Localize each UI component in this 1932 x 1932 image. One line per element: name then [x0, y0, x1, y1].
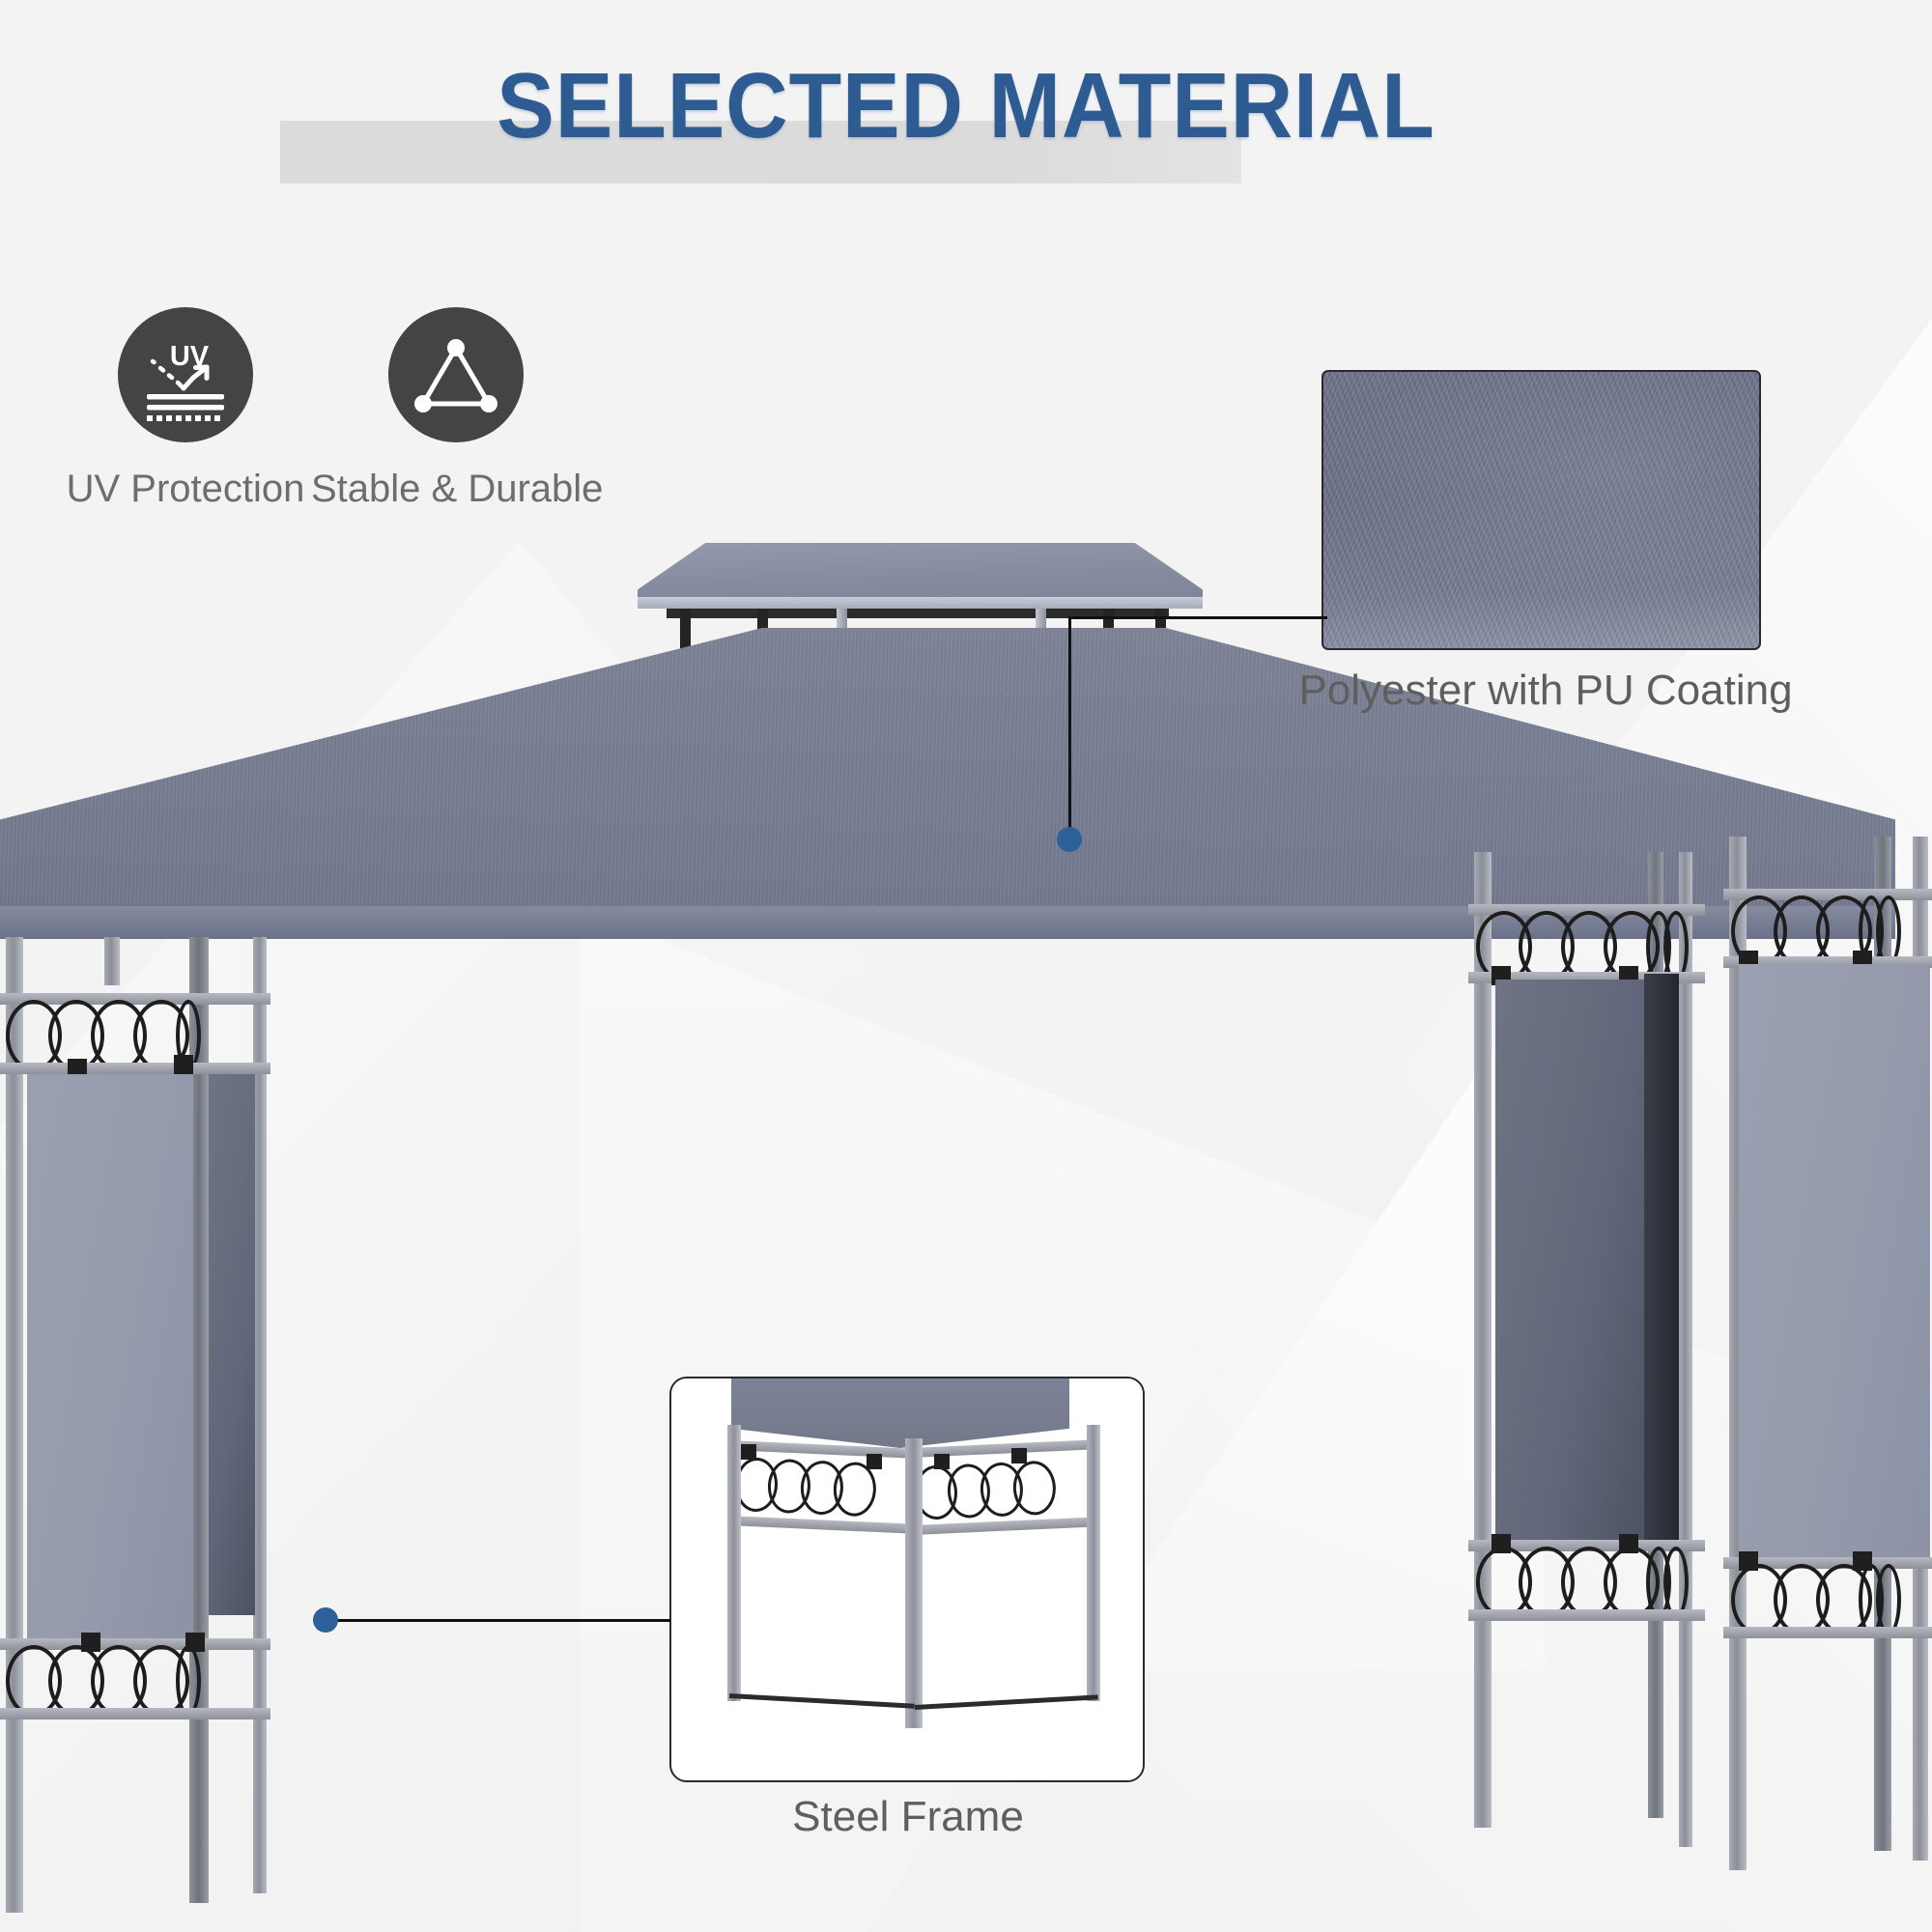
- page-title: SELECTED MATERIAL: [68, 53, 1864, 159]
- frame-detail-post-left: [727, 1425, 741, 1701]
- curtain-right-a-fold: [1644, 974, 1679, 1546]
- feature-stable-durable-label: Stable & Durable: [311, 468, 601, 511]
- connector-right-b-3: [1739, 1551, 1758, 1571]
- curtain-right-a: [1495, 980, 1646, 1546]
- post-left-outer: [6, 937, 23, 1913]
- connector-right-a-3: [1492, 1534, 1511, 1553]
- triangle-stability-icon-badge: [388, 307, 524, 442]
- rail-right-b-lower-bottom: [1723, 1627, 1932, 1638]
- canopy-upper-tier: [638, 543, 1203, 603]
- material-leader-marker: [1057, 827, 1082, 852]
- feature-uv-protection-label: UV Protection: [60, 468, 311, 511]
- connector-left-2: [174, 1055, 193, 1074]
- connector-left-3: [81, 1633, 100, 1652]
- fabric-swatch-sheen: [1323, 372, 1759, 648]
- frame-detail-canopy: [731, 1378, 1069, 1448]
- frame-detail-connector-3: [934, 1454, 950, 1469]
- frame-leader-horizontal: [327, 1619, 670, 1622]
- frame-detail-trim-left: [734, 1454, 913, 1521]
- material-leader-vertical: [1068, 616, 1071, 840]
- steel-frame-label: Steel Frame: [618, 1793, 1198, 1841]
- rail-left-bottom: [0, 1063, 270, 1074]
- frame-detail-post-right: [1087, 1425, 1100, 1701]
- frame-detail-connector-1: [741, 1444, 756, 1460]
- feature-stable-durable: Stable & Durable: [311, 307, 601, 511]
- frame-detail-connector-2: [867, 1454, 882, 1469]
- fabric-swatch: [1321, 370, 1761, 650]
- connector-right-b-4: [1853, 1551, 1872, 1571]
- curtain-left-side: [209, 1074, 255, 1615]
- triangle-stability-icon: [388, 307, 524, 442]
- material-leader-horizontal: [1068, 616, 1327, 619]
- rail-right-a-lower-bottom: [1468, 1609, 1705, 1621]
- connector-left-4: [185, 1633, 205, 1652]
- uv-protection-icon-badge: UV: [118, 307, 253, 442]
- feature-uv-protection: UV UV Protection: [60, 307, 311, 511]
- steel-frame-detail: [669, 1377, 1145, 1782]
- fabric-swatch-label: Polyester with PU Coating: [1285, 667, 1806, 715]
- curtain-left-front: [27, 1074, 193, 1644]
- post-right-a-edge: [1679, 852, 1692, 1847]
- frame-detail-ground-right: [915, 1694, 1098, 1710]
- frame-detail-post-corner: [905, 1438, 923, 1728]
- post-left-back: [253, 937, 267, 1893]
- canopy-upper-rim: [638, 597, 1203, 609]
- frame-detail-ground-left: [729, 1693, 915, 1709]
- curtain-right-b: [1739, 964, 1930, 1563]
- post-right-a-front: [1474, 852, 1492, 1828]
- frame-leader-marker: [313, 1607, 338, 1633]
- connector-right-a-4: [1619, 1534, 1638, 1553]
- frame-detail-connector-4: [1011, 1448, 1027, 1463]
- rail-left-lower-bottom: [0, 1708, 270, 1719]
- uv-protection-icon: UV: [118, 307, 253, 442]
- post-left-inner-stub: [104, 937, 120, 985]
